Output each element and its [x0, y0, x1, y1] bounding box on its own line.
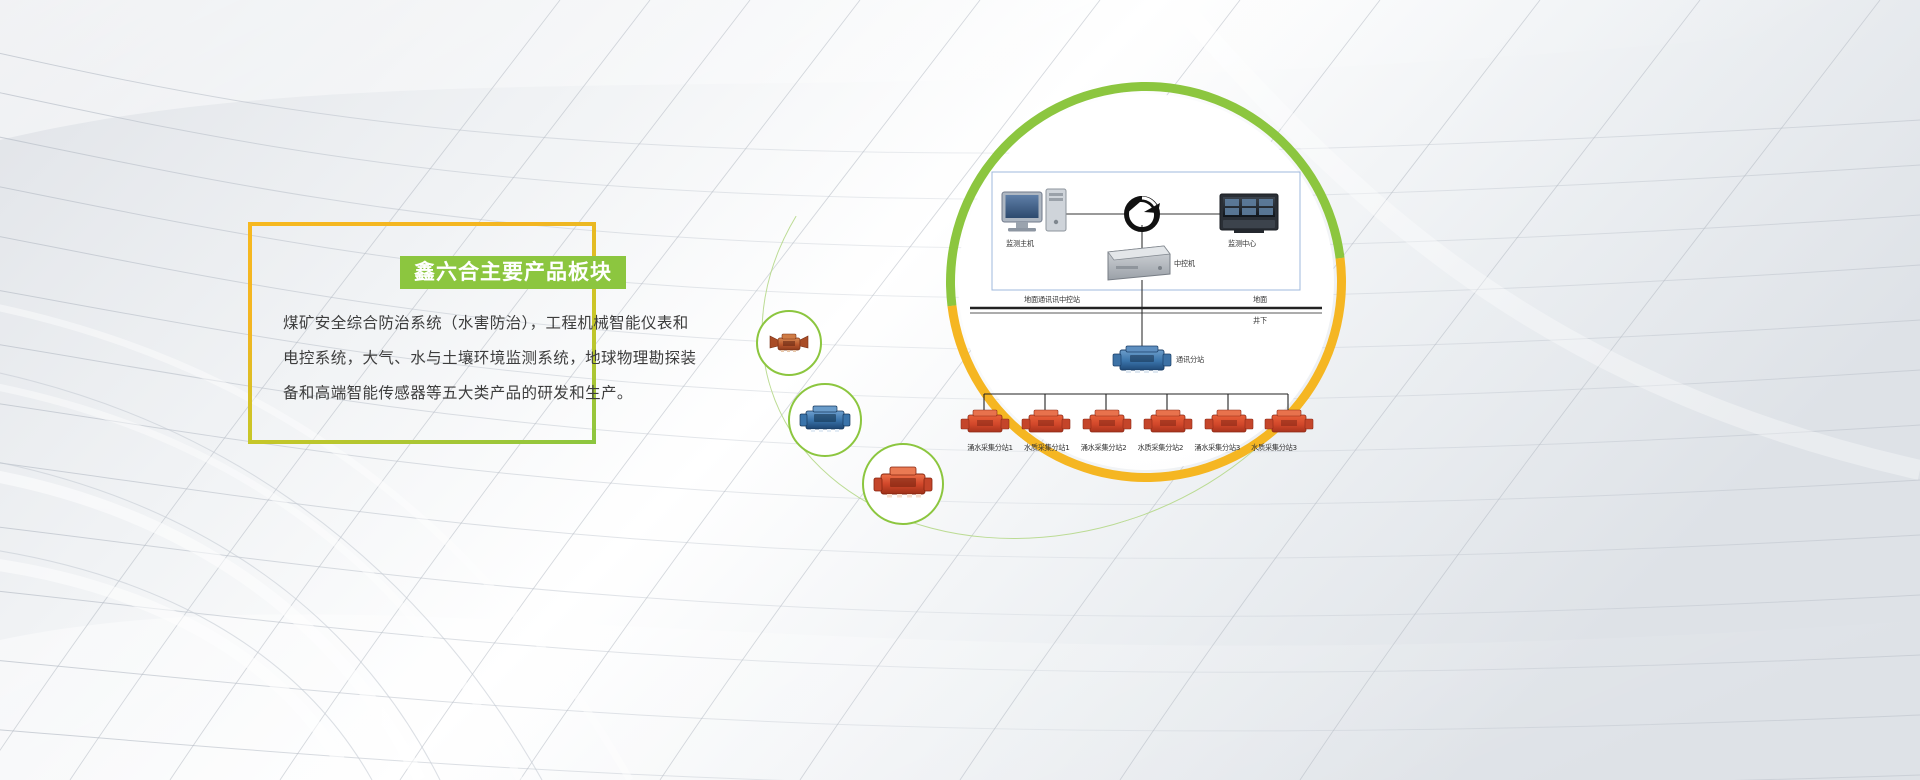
station-label-1: 涌水采集分站1 — [962, 443, 1018, 453]
collector-station-labels: 涌水采集分站1 水质采集分站1 涌水采集分站2 水质采集分站2 涌水采集分站3 … — [962, 443, 1302, 453]
label-monitor-host: 监测主机 — [1006, 239, 1034, 249]
label-surface-comm-station: 地面通讯讯中控站 — [1024, 295, 1080, 305]
diagram-svg — [958, 94, 1334, 470]
station-label-4: 水质采集分站2 — [1132, 443, 1188, 453]
blue-controller-icon — [799, 403, 851, 437]
monitor-center-icon — [1220, 194, 1278, 233]
collector-devices — [961, 410, 1313, 432]
product-bubble-collector[interactable] — [862, 443, 944, 525]
page-title: 鑫六合主要产品板块 — [414, 262, 612, 283]
label-monitor-center: 监测中心 — [1228, 239, 1256, 249]
description-line-1: 煤矿安全综合防治系统（水害防治），工程机械智能仪表和 — [283, 306, 713, 341]
central-controller-icon — [1108, 246, 1170, 280]
panel-description: 煤矿安全综合防治系统（水害防治），工程机械智能仪表和 电控系统，大气、水与土壤环… — [283, 306, 713, 411]
banner-stage: 鑫六合主要产品板块 煤矿安全综合防治系统（水害防治），工程机械智能仪表和 电控系… — [0, 0, 1920, 780]
red-collector-icon — [873, 464, 933, 504]
station-label-3: 涌水采集分站2 — [1076, 443, 1132, 453]
label-ground-above: 地面 — [1253, 295, 1267, 305]
station-label-6: 水质采集分站3 — [1246, 443, 1302, 453]
label-ground-below: 井下 — [1253, 316, 1267, 326]
network-cloud-icon — [1126, 196, 1160, 229]
mine-water-monitoring-diagram: 监测主机 监测中心 中控机 地面通讯讯中控站 地面 井下 通讯分站 — [958, 94, 1334, 470]
description-line-2: 电控系统，大气、水与土壤环境监测系统，地球物理勘探装 — [283, 341, 713, 376]
section-title-banner: 鑫六合主要产品板块 — [400, 256, 626, 289]
product-bubble-sensor[interactable] — [756, 310, 822, 376]
comm-substation-icon — [1113, 346, 1171, 373]
station-label-2: 水质采集分站1 — [1019, 443, 1075, 453]
description-line-3: 备和高端智能传感器等五大类产品的研发和生产。 — [283, 376, 713, 411]
sensor-device-icon — [769, 330, 809, 356]
monitor-host-icon — [1002, 189, 1066, 232]
product-bubble-controller[interactable] — [788, 383, 862, 457]
label-central-controller: 中控机 — [1174, 259, 1195, 269]
station-label-5: 涌水采集分站3 — [1189, 443, 1245, 453]
label-comm-substation: 通讯分站 — [1176, 355, 1204, 365]
